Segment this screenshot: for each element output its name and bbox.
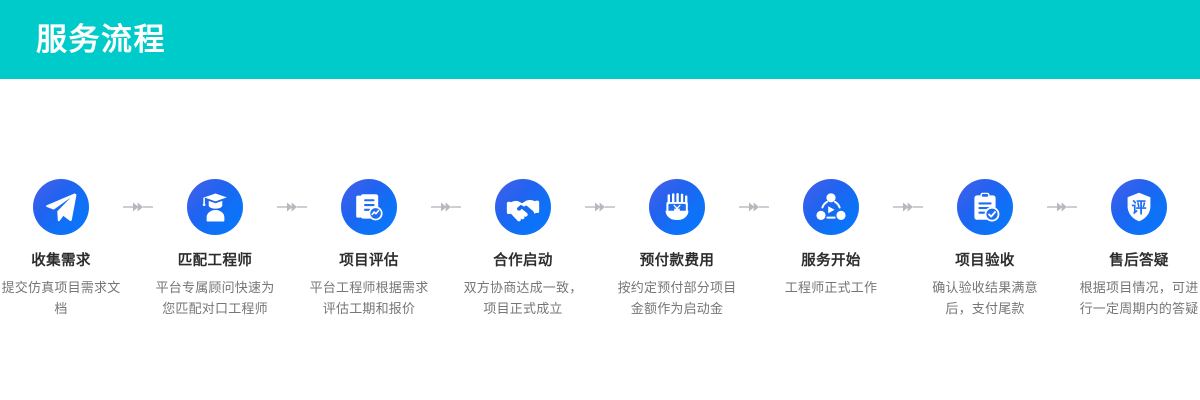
flow-step-3[interactable]: 项目评估 平台工程师根据需求评估工期和报价 bbox=[307, 179, 431, 319]
svg-text:评: 评 bbox=[1131, 200, 1146, 217]
handshake-icon bbox=[495, 179, 551, 235]
double-chevron-right-icon bbox=[585, 179, 615, 235]
flow-step-title: 合作启动 bbox=[493, 252, 553, 270]
flow-step-title: 预付款费用 bbox=[640, 252, 715, 270]
flow-step-2[interactable]: 匹配工程师 平台专属顾问快速为您匹配对口工程师 bbox=[153, 179, 277, 319]
flow-step-title: 收集需求 bbox=[31, 252, 91, 270]
flow-step-6[interactable]: 服务开始 工程师正式工作 bbox=[769, 179, 893, 298]
flow-step-1[interactable]: 收集需求 提交仿真项目需求文档 bbox=[0, 179, 123, 319]
flow-step-desc: 平台工程师根据需求评估工期和报价 bbox=[307, 277, 431, 319]
double-chevron-right-icon bbox=[277, 179, 307, 235]
flow-step-title: 售后答疑 bbox=[1109, 252, 1169, 270]
flow-step-desc: 提交仿真项目需求文档 bbox=[0, 277, 123, 319]
hand-holding-yuan-note-icon bbox=[649, 179, 705, 235]
clipboard-check-icon bbox=[957, 179, 1013, 235]
service-flow-steps: 收集需求 提交仿真项目需求文档 匹配工程师 bbox=[0, 79, 1200, 400]
double-chevron-right-icon bbox=[739, 179, 769, 235]
flow-step-title: 服务开始 bbox=[801, 252, 861, 270]
double-chevron-right-icon bbox=[431, 179, 461, 235]
double-chevron-right-icon bbox=[893, 179, 923, 235]
flow-step-4[interactable]: 合作启动 双方协商达成一致，项目正式成立 bbox=[461, 179, 585, 319]
flow-step-desc: 平台专属顾问快速为您匹配对口工程师 bbox=[153, 277, 277, 319]
flow-step-title: 项目评估 bbox=[339, 252, 399, 270]
document-analysis-icon bbox=[341, 179, 397, 235]
page-header-banner: 服务流程 bbox=[0, 0, 1200, 79]
flow-step-desc: 确认验收结果满意后，支付尾款 bbox=[923, 277, 1047, 319]
paper-plane-icon bbox=[33, 179, 89, 235]
flow-step-7[interactable]: 项目验收 确认验收结果满意后，支付尾款 bbox=[923, 179, 1047, 319]
team-network-play-icon bbox=[803, 179, 859, 235]
flow-step-desc: 按约定预付部分项目金额作为启动金 bbox=[615, 277, 739, 319]
graduate-engineer-icon bbox=[187, 179, 243, 235]
flow-step-8[interactable]: 评 售后答疑 根据项目情况，可进行一定周期内的答疑 bbox=[1077, 179, 1200, 319]
shield-review-icon: 评 bbox=[1111, 179, 1167, 235]
flow-step-5[interactable]: 预付款费用 按约定预付部分项目金额作为启动金 bbox=[615, 179, 739, 319]
flow-step-desc: 根据项目情况，可进行一定周期内的答疑 bbox=[1077, 277, 1200, 319]
double-chevron-right-icon bbox=[1047, 179, 1077, 235]
double-chevron-right-icon bbox=[123, 179, 153, 235]
flow-step-desc: 双方协商达成一致，项目正式成立 bbox=[461, 277, 585, 319]
flow-step-desc: 工程师正式工作 bbox=[769, 277, 893, 298]
flow-step-title: 项目验收 bbox=[955, 252, 1015, 270]
service-flow-page: 服务流程 收集需求 提交仿真项目需求文档 bbox=[0, 0, 1200, 400]
flow-step-title: 匹配工程师 bbox=[178, 252, 253, 270]
page-title: 服务流程 bbox=[36, 22, 166, 58]
